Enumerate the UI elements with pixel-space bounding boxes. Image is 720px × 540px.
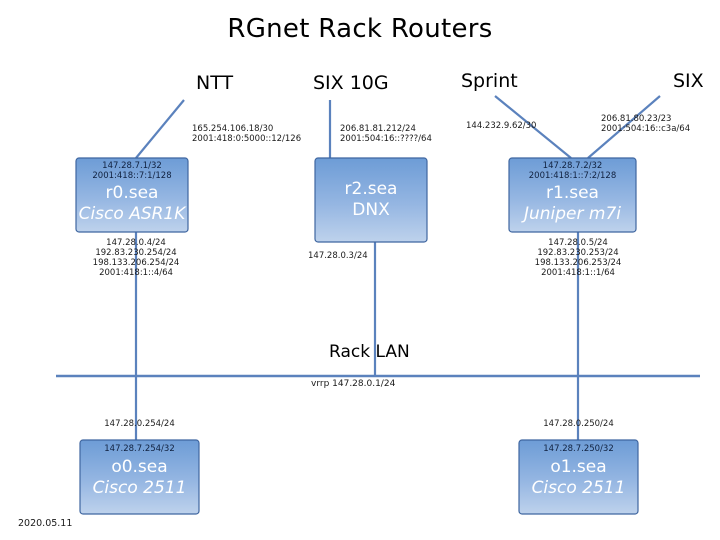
lan-address: 192.83.230.253/24: [518, 248, 638, 258]
lan-address: 147.28.0.4/24: [76, 238, 196, 248]
uplink-address: 206.81.81.212/24: [340, 124, 432, 134]
uplink-addresses-sprint: 144.232.9.62/30: [466, 121, 536, 131]
uplink-addresses-six: 206.81.80.23/23 2001:504:16::c3a/64: [601, 114, 690, 134]
uplink-label-sprint: Sprint: [461, 70, 518, 92]
router-box-r0[interactable]: [76, 158, 188, 232]
console-box-o1[interactable]: [519, 440, 638, 514]
link-ntt-r0: [136, 100, 184, 158]
uplink-label-six: SIX: [673, 70, 704, 92]
uplink-address: 2001:418:0:5000::12/126: [192, 134, 301, 144]
rack-lan-title: Rack LAN: [329, 342, 410, 362]
lan-address: 147.28.0.5/24: [518, 238, 638, 248]
router-lan-addresses-r0: 147.28.0.4/24 192.83.230.254/24 198.133.…: [76, 238, 196, 278]
lan-address: 198.133.206.253/24: [518, 258, 638, 268]
rack-lan-vrrp: vrrp 147.28.0.1/24: [311, 379, 395, 389]
lan-address: 198.133.206.254/24: [76, 258, 196, 268]
console-lan-address-o1: 147.28.0.250/24: [519, 419, 638, 429]
lan-address: 2001:418:1::4/64: [76, 268, 196, 278]
uplink-address: 165.254.106.18/30: [192, 124, 301, 134]
lan-address: 147.28.0.3/24: [308, 251, 368, 261]
date-stamp: 2020.05.11: [18, 518, 72, 529]
uplink-label-ntt: NTT: [196, 72, 233, 94]
router-box-r2[interactable]: [315, 158, 427, 242]
router-lan-addresses-r2: 147.28.0.3/24: [308, 251, 368, 261]
uplink-label-six10g: SIX 10G: [313, 72, 389, 94]
router-box-r1[interactable]: [509, 158, 636, 232]
lan-address: 192.83.230.254/24: [76, 248, 196, 258]
uplink-address: 2001:504:16::????/64: [340, 134, 432, 144]
router-lan-addresses-r1: 147.28.0.5/24 192.83.230.253/24 198.133.…: [518, 238, 638, 278]
uplink-addresses-ntt: 165.254.106.18/30 2001:418:0:5000::12/12…: [192, 124, 301, 144]
uplink-address: 144.232.9.62/30: [466, 121, 536, 131]
uplink-address: 2001:504:16::c3a/64: [601, 124, 690, 134]
lan-address: 147.28.0.250/24: [519, 419, 638, 429]
uplink-addresses-six10g: 206.81.81.212/24 2001:504:16::????/64: [340, 124, 432, 144]
lan-address: 2001:418:1::1/64: [518, 268, 638, 278]
uplink-address: 206.81.80.23/23: [601, 114, 690, 124]
console-lan-address-o0: 147.28.0.254/24: [80, 419, 199, 429]
console-box-o0[interactable]: [80, 440, 199, 514]
lan-address: 147.28.0.254/24: [80, 419, 199, 429]
page-title: RGnet Rack Routers: [0, 14, 720, 44]
